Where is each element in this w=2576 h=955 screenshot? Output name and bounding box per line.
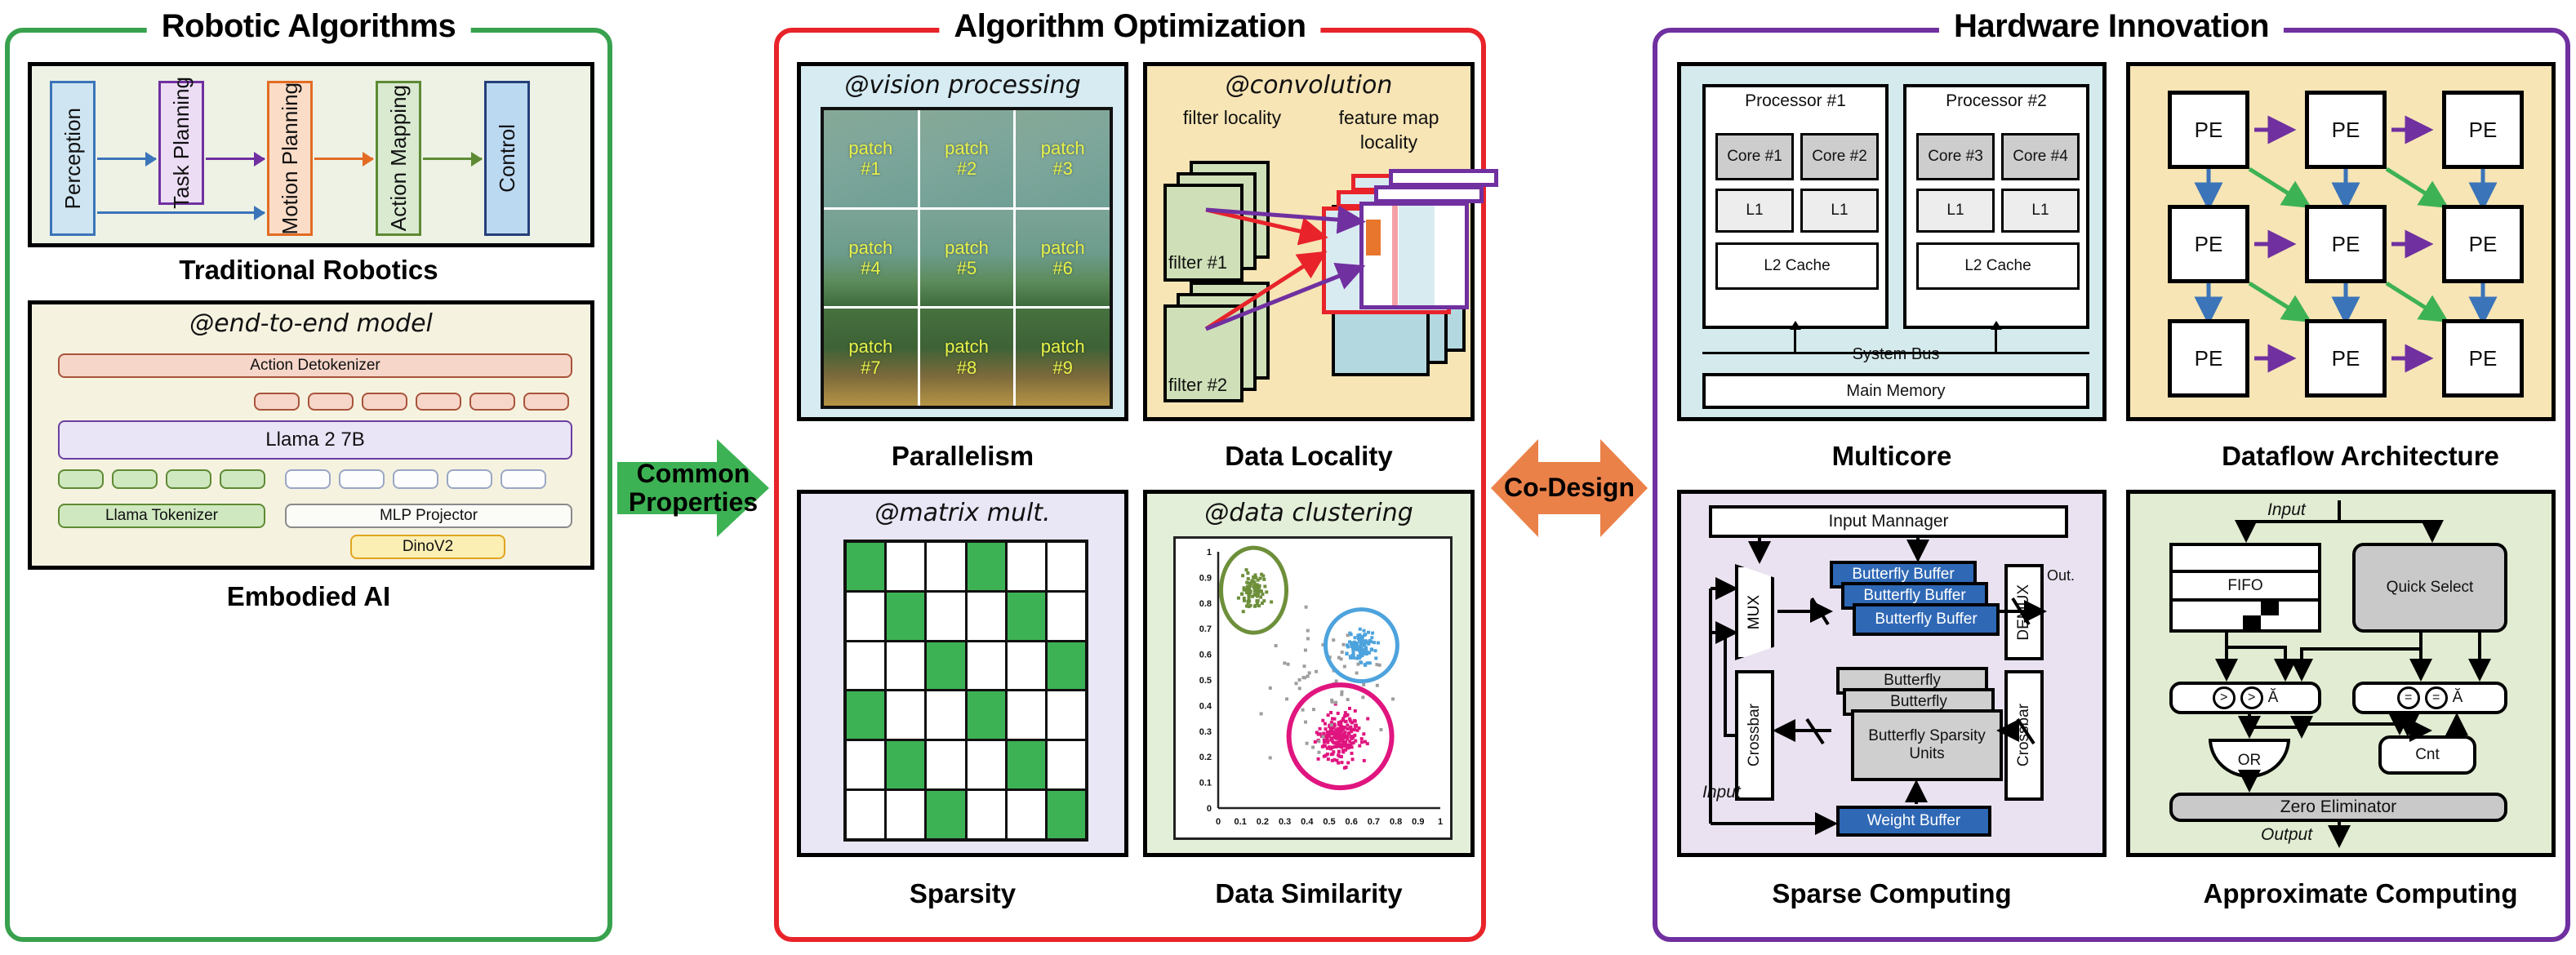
matrix-cell-4-5 bbox=[1008, 691, 1045, 739]
pipeline-stage-action-mapping: Action Mapping bbox=[376, 81, 421, 236]
matrix-cell-2-1 bbox=[847, 593, 884, 640]
group-title-robotic-algorithms: Robotic Algorithms bbox=[147, 8, 471, 45]
matrix-cell-6-5 bbox=[1008, 791, 1045, 838]
or-gate: OR bbox=[2209, 739, 2290, 778]
token-chip-w4 bbox=[447, 469, 492, 489]
matrix-cell-1-2 bbox=[887, 543, 924, 590]
processor-2: Processor #2 Core #3 Core #4 L1 L1 L2 Ca… bbox=[1903, 84, 2089, 329]
dinov2-bar: DinoV2 bbox=[350, 535, 505, 559]
patch-1: patch #1 bbox=[824, 110, 918, 207]
svg-text:0.4: 0.4 bbox=[1301, 817, 1314, 827]
group-algorithm-optimization: Algorithm Optimization @vision processin… bbox=[774, 28, 1486, 942]
svg-text:1: 1 bbox=[1207, 548, 1212, 557]
pipeline-stage-motion-planning: Motion Planning bbox=[267, 81, 313, 236]
counter-box: Cnt bbox=[2378, 735, 2476, 775]
traditional-robotics-pipeline: Perception Task Planning Motion Planning… bbox=[28, 62, 594, 247]
approx-output-label: Output bbox=[2261, 825, 2312, 845]
matrix-cell-6-4 bbox=[968, 791, 1005, 838]
scatter-svg: 00.10.20.30.40.50.60.70.80.9100.10.20.30… bbox=[1176, 539, 1455, 842]
arrow-action-to-control bbox=[423, 158, 482, 160]
common-properties-label: Common Properties bbox=[629, 460, 758, 517]
l1-cache-3: L1 bbox=[1916, 189, 1995, 233]
l2-cache-2: L2 Cache bbox=[1916, 242, 2080, 290]
fm-highlight-cell bbox=[1366, 220, 1381, 255]
compare-equal-box: = = Ă bbox=[2352, 682, 2507, 714]
group-title-hardware-innovation: Hardware Innovation bbox=[1939, 8, 2284, 45]
token-chip-g3 bbox=[166, 469, 211, 489]
patch-6: patch #6 bbox=[1016, 210, 1110, 307]
fifo-box: FIFO bbox=[2169, 543, 2321, 633]
pe-cell-1: PE bbox=[2168, 91, 2249, 169]
svg-text:0.8: 0.8 bbox=[1390, 817, 1402, 827]
compare-greater-box: > > Ă bbox=[2169, 682, 2321, 714]
svg-text:0.3: 0.3 bbox=[1279, 817, 1291, 827]
pe-cell-9: PE bbox=[2442, 319, 2524, 398]
equals-icon-2: = bbox=[2425, 686, 2448, 709]
svg-text:0.2: 0.2 bbox=[1199, 753, 1212, 762]
caption-parallelism: Parallelism bbox=[797, 441, 1128, 472]
crossbar-right: Crossbar bbox=[2004, 670, 2044, 801]
l2-cache-1: L2 Cache bbox=[1715, 242, 1879, 290]
matrix-cell-1-3 bbox=[927, 543, 964, 590]
processor-1-name: Processor #1 bbox=[1706, 87, 1885, 111]
patch-3: patch #3 bbox=[1016, 110, 1110, 207]
clustering-scatter-plot: 00.10.20.30.40.50.60.70.80.9100.10.20.30… bbox=[1173, 536, 1453, 840]
pe-cell-3: PE bbox=[2442, 91, 2524, 169]
matrix-cell-1-4 bbox=[968, 543, 1005, 590]
matrix-cell-6-1 bbox=[847, 791, 884, 838]
matrix-cell-3-3 bbox=[927, 642, 964, 690]
pe-cell-6: PE bbox=[2442, 205, 2524, 283]
matrix-cell-5-6 bbox=[1048, 741, 1085, 788]
token-chip-a2 bbox=[308, 393, 354, 411]
demux-box: DEMUX bbox=[2004, 564, 2044, 660]
caption-data-similarity: Data Similarity bbox=[1143, 878, 1475, 909]
arrow-perception-to-task bbox=[97, 158, 156, 160]
embodied-card-title: @end-to-end model bbox=[32, 304, 590, 338]
matrix-cell-2-5 bbox=[1008, 593, 1045, 640]
caption-traditional-robotics: Traditional Robotics bbox=[25, 255, 592, 286]
core-4: Core #4 bbox=[2001, 133, 2080, 180]
sparse-computing-card: Input Mannager MUX DEMUX Butterfly Buffe… bbox=[1677, 490, 2107, 857]
matrix-cell-2-3 bbox=[927, 593, 964, 640]
caption-approximate-computing: Approximate Computing bbox=[2146, 878, 2575, 909]
equals-icon: = bbox=[2397, 686, 2420, 709]
pe-cell-2: PE bbox=[2305, 91, 2387, 169]
patch-2: patch #2 bbox=[920, 110, 1014, 207]
matrix-cell-2-6 bbox=[1048, 593, 1085, 640]
matrix-cell-2-2 bbox=[887, 593, 924, 640]
token-chip-a3 bbox=[362, 393, 407, 411]
group-robotic-algorithms: Robotic Algorithms Perception Task Plann… bbox=[5, 28, 612, 942]
svg-text:0.3: 0.3 bbox=[1199, 727, 1212, 737]
feature-map-locality-label-2: locality bbox=[1309, 131, 1469, 153]
caption-sparsity: Sparsity bbox=[797, 878, 1128, 909]
data-clustering-card: @data clustering 00.10.20.30.40.50.60.70… bbox=[1143, 490, 1475, 857]
token-chip-a1 bbox=[254, 393, 300, 411]
svg-text:1: 1 bbox=[1438, 817, 1443, 827]
action-detokenizer-bar: Action Detokenizer bbox=[58, 353, 572, 378]
llama-tokenizer-bar: Llama Tokenizer bbox=[58, 504, 265, 528]
pipeline-stage-task-planning: Task Planning bbox=[158, 81, 204, 205]
sparsity-grid bbox=[843, 540, 1088, 842]
pe-cell-8: PE bbox=[2305, 319, 2387, 398]
matrix-cell-5-5 bbox=[1008, 741, 1045, 788]
svg-text:0.2: 0.2 bbox=[1257, 817, 1269, 827]
matrix-cell-4-3 bbox=[927, 691, 964, 739]
caption-multicore: Multicore bbox=[1677, 441, 2107, 472]
svg-text:0.5: 0.5 bbox=[1199, 676, 1212, 686]
arrow-perception-to-motion bbox=[97, 211, 265, 214]
fifo-label: FIFO bbox=[2173, 573, 2318, 602]
butterfly-sparsity-units: Butterfly Sparsity Units bbox=[1851, 709, 2003, 781]
l1-cache-1: L1 bbox=[1715, 189, 1794, 233]
system-bus-label: System Bus bbox=[1702, 342, 2089, 366]
butterfly-buffer-3: Butterfly Buffer bbox=[1853, 603, 2000, 636]
token-chip-w1 bbox=[285, 469, 331, 489]
input-manager-box: Input Mannager bbox=[1709, 505, 2068, 538]
filter2-label: filter #2 bbox=[1168, 375, 1227, 396]
matrix-cell-6-2 bbox=[887, 791, 924, 838]
svg-text:0.1: 0.1 bbox=[1199, 779, 1212, 788]
matrix-cell-6-6 bbox=[1048, 791, 1085, 838]
sparse-input-label: Input bbox=[1702, 783, 1741, 802]
caption-sparse-computing: Sparse Computing bbox=[1677, 878, 2107, 909]
processor-1: Processor #1 Core #1 Core #2 L1 L1 L2 Ca… bbox=[1702, 84, 1889, 329]
core-3: Core #3 bbox=[1916, 133, 1995, 180]
mlp-projector-bar: MLP Projector bbox=[285, 504, 572, 528]
matrix-cell-3-1 bbox=[847, 642, 884, 690]
system-bus-line bbox=[1702, 352, 2089, 354]
llama-2-7b-bar: Llama 2 7B bbox=[58, 420, 572, 460]
matrix-cell-6-3 bbox=[927, 791, 964, 838]
patch-9: patch #9 bbox=[1016, 309, 1110, 406]
main-memory: Main Memory bbox=[1702, 373, 2089, 409]
patch-8: patch #8 bbox=[920, 309, 1014, 406]
matrix-cell-1-6 bbox=[1048, 543, 1085, 590]
token-chip-a4 bbox=[416, 393, 461, 411]
fm-light-col bbox=[1399, 206, 1435, 305]
matrix-cell-4-2 bbox=[887, 691, 924, 739]
matrix-cell-3-4 bbox=[968, 642, 1005, 690]
patch-4: patch #4 bbox=[824, 210, 918, 307]
fm-stripe-col bbox=[1392, 206, 1398, 305]
filter1-label: filter #1 bbox=[1168, 252, 1227, 273]
convolution-card: @convolution filter locality feature map… bbox=[1143, 62, 1475, 421]
svg-text:0.5: 0.5 bbox=[1323, 817, 1335, 827]
l1-cache-2: L1 bbox=[1800, 189, 1879, 233]
matrix-cell-5-4 bbox=[968, 741, 1005, 788]
matrix-cell-2-4 bbox=[968, 593, 1005, 640]
vision-processing-card: @vision processing patch #1 patch #2 pat… bbox=[797, 62, 1128, 421]
l1-cache-4: L1 bbox=[2001, 189, 2080, 233]
fm-purple-band-mid bbox=[1374, 185, 1484, 203]
convolution-card-title: @convolution bbox=[1147, 66, 1470, 100]
pipeline-stage-control: Control bbox=[484, 81, 530, 236]
caption-dataflow-architecture: Dataflow Architecture bbox=[2146, 441, 2575, 472]
token-chip-a5 bbox=[469, 393, 515, 411]
vision-card-title: @vision processing bbox=[801, 66, 1124, 100]
svg-text:0.6: 0.6 bbox=[1199, 651, 1212, 660]
svg-text:0: 0 bbox=[1216, 817, 1221, 827]
matrix-cell-1-5 bbox=[1008, 543, 1045, 590]
pe-cell-4: PE bbox=[2168, 205, 2249, 283]
group-hardware-innovation: Hardware Innovation Processor #1 Core #1… bbox=[1653, 28, 2570, 942]
matrix-card-title: @matrix mult. bbox=[801, 494, 1124, 527]
processor-2-name: Processor #2 bbox=[1906, 87, 2086, 111]
svg-text:0: 0 bbox=[1207, 804, 1212, 814]
arrow-motion-to-action bbox=[314, 158, 373, 160]
quick-select-box: Quick Select bbox=[2352, 543, 2507, 633]
embodied-ai-card: @end-to-end model Action Detokenizer Lla… bbox=[28, 300, 594, 570]
matrix-cell-3-5 bbox=[1008, 642, 1045, 690]
matrix-cell-4-4 bbox=[968, 691, 1005, 739]
multicore-card: Processor #1 Core #1 Core #2 L1 L1 L2 Ca… bbox=[1677, 62, 2107, 421]
svg-text:0.7: 0.7 bbox=[1199, 624, 1212, 634]
patch-7: patch #7 bbox=[824, 309, 918, 406]
approximate-computing-card: Input FIFO Quick Select > > Ă = = Ă O bbox=[2126, 490, 2556, 857]
matrix-cell-5-1 bbox=[847, 741, 884, 788]
filter-locality-label: filter locality bbox=[1159, 107, 1306, 129]
token-chip-g1 bbox=[58, 469, 104, 489]
svg-text:0.9: 0.9 bbox=[1412, 817, 1424, 827]
mux-box: MUX bbox=[1735, 564, 1774, 660]
token-chip-a6 bbox=[523, 393, 569, 411]
matrix-cell-5-3 bbox=[927, 741, 964, 788]
pe-cell-7: PE bbox=[2168, 319, 2249, 398]
clustering-card-title: @data clustering bbox=[1147, 494, 1470, 527]
pe-cell-5: PE bbox=[2305, 205, 2387, 283]
svg-text:0.6: 0.6 bbox=[1346, 817, 1358, 827]
matrix-cell-3-6 bbox=[1048, 642, 1085, 690]
token-chip-w3 bbox=[393, 469, 438, 489]
token-chip-g2 bbox=[112, 469, 158, 489]
sparse-output-label: Out. bbox=[2047, 567, 2075, 584]
token-chip-g4 bbox=[220, 469, 265, 489]
dataflow-card: PE PE PE PE PE PE PE PE PE bbox=[2126, 62, 2556, 421]
fm-purple-band-back bbox=[1389, 169, 1498, 187]
zero-eliminator-box: Zero Eliminator bbox=[2169, 793, 2507, 822]
matrix-mult-card: @matrix mult. bbox=[797, 490, 1128, 857]
svg-text:0.9: 0.9 bbox=[1199, 573, 1212, 583]
co-design-label: Co-Design bbox=[1504, 473, 1635, 502]
matrix-cell-3-2 bbox=[887, 642, 924, 690]
patch-grid: patch #1 patch #2 patch #3 patch #4 patc… bbox=[821, 107, 1113, 409]
svg-text:0.4: 0.4 bbox=[1199, 701, 1212, 711]
svg-text:0.7: 0.7 bbox=[1368, 817, 1380, 827]
crossbar-left: Crossbar bbox=[1735, 670, 1774, 801]
connector-common-properties: Common Properties bbox=[617, 439, 769, 537]
diagram-canvas: Robotic Algorithms Perception Task Plann… bbox=[0, 0, 2576, 955]
pipeline-stage-perception: Perception bbox=[50, 81, 96, 236]
matrix-cell-1-1 bbox=[847, 543, 884, 590]
arrow-task-to-motion bbox=[206, 158, 265, 160]
matrix-cell-5-2 bbox=[887, 741, 924, 788]
matrix-cell-4-6 bbox=[1048, 691, 1085, 739]
svg-text:0.8: 0.8 bbox=[1199, 599, 1212, 609]
caption-embodied-ai: Embodied AI bbox=[25, 581, 592, 612]
matrix-cell-4-1 bbox=[847, 691, 884, 739]
greater-than-icon: > bbox=[2213, 686, 2236, 709]
token-chip-w5 bbox=[501, 469, 546, 489]
caption-data-locality: Data Locality bbox=[1143, 441, 1475, 472]
svg-text:0.1: 0.1 bbox=[1235, 817, 1247, 827]
core-1: Core #1 bbox=[1715, 133, 1794, 180]
approx-input-label: Input bbox=[2267, 500, 2306, 520]
greater-than-icon-2: > bbox=[2240, 686, 2263, 709]
connector-co-design: Co-Design bbox=[1491, 439, 1648, 537]
feature-map-locality-label-1: feature map bbox=[1309, 107, 1469, 129]
core-2: Core #2 bbox=[1800, 133, 1879, 180]
patch-5: patch #5 bbox=[920, 210, 1014, 307]
weight-buffer: Weight Buffer bbox=[1836, 806, 1991, 837]
token-chip-w2 bbox=[339, 469, 385, 489]
group-title-algorithm-optimization: Algorithm Optimization bbox=[939, 8, 1320, 45]
